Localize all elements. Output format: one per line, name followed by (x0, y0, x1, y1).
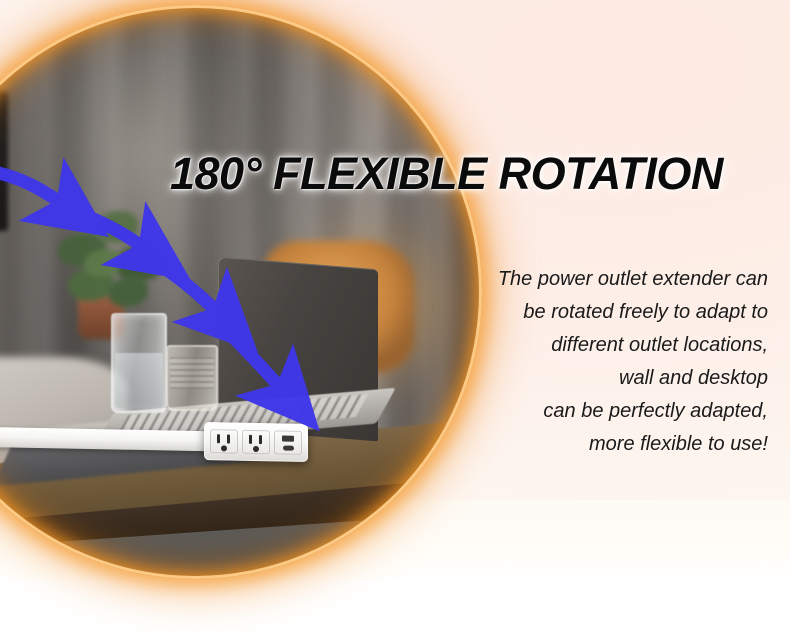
description-line: can be perfectly adapted, (468, 395, 768, 428)
outlet-ground-hole (253, 446, 259, 452)
ac-outlet-1 (210, 429, 238, 454)
outlet-slot-right (259, 435, 262, 444)
outlet-slot-left (249, 435, 252, 444)
outlet-slot-right (227, 434, 230, 443)
background-white-strip (0, 578, 790, 635)
outlet-ground-hole (221, 445, 227, 451)
usb-c-port-icon (283, 446, 294, 451)
page-title: 180° FLEXIBLE ROTATION (170, 148, 774, 200)
horizontal-arm (0, 427, 218, 452)
glass-pattern (170, 357, 214, 389)
usb-socket-panel (274, 430, 302, 455)
floor-sheen (0, 528, 128, 579)
short-glass (166, 345, 218, 411)
product-scene-photo (0, 5, 482, 579)
scene-canvas (0, 5, 482, 579)
usb-a-port-icon (282, 435, 294, 441)
tall-water-glass (111, 313, 167, 413)
promo-banner: 180° FLEXIBLE ROTATION The power outlet … (0, 0, 790, 635)
description-line: more flexible to use! (468, 428, 768, 461)
description-line: The power outlet extender can (468, 263, 768, 296)
description-line: wall and desktop (468, 362, 768, 395)
desktop-power-strip (204, 422, 308, 462)
water-level (115, 353, 163, 408)
description-line: different outlet locations, (468, 329, 768, 362)
framed-picture (0, 91, 8, 231)
outlet-slot-left (217, 434, 220, 443)
description-line: be rotated freely to adapt to (468, 296, 768, 329)
ac-outlet-2 (242, 430, 270, 455)
description-text: The power outlet extender can be rotated… (468, 263, 768, 461)
